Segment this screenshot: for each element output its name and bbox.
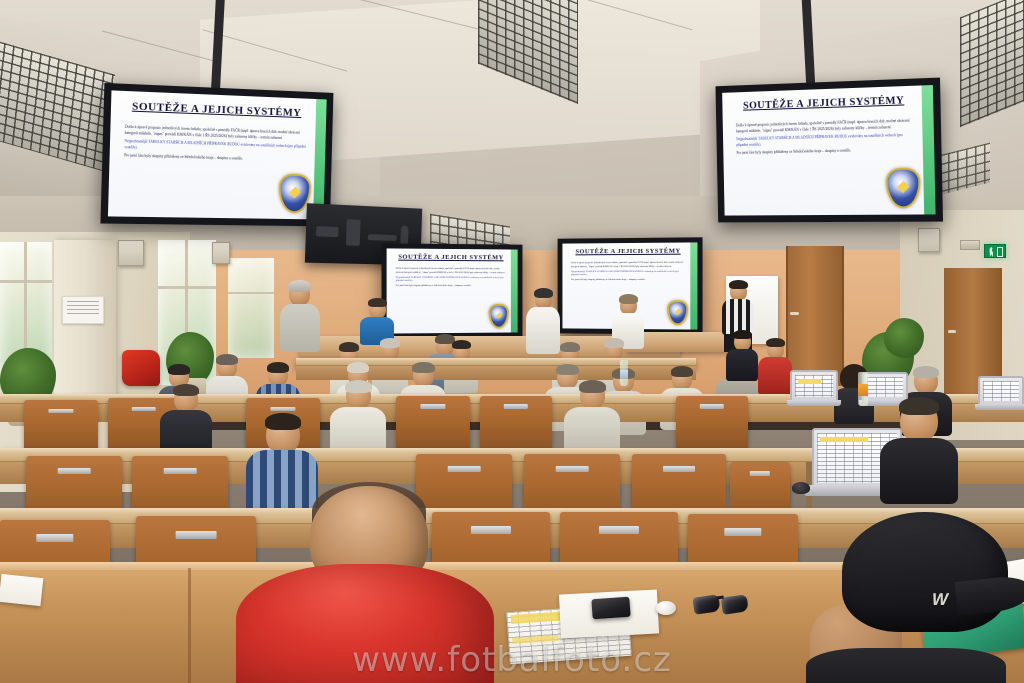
attendee-seated xyxy=(758,340,792,392)
slide-bullet: Nejpodstatnější TABULKY STARŠÍCH A MLADŠ… xyxy=(736,133,913,149)
screen-wall-left: SOUTĚŽE A JEJICH SYSTÉMY Došlo k úpravě … xyxy=(381,243,522,338)
slide-bullet: Pro jarní část byly skupiny přihlášeny z… xyxy=(736,147,913,157)
cap-logo: W xyxy=(930,590,956,608)
slide-title: SOUTĚŽE A JEJICH SYSTÉMY xyxy=(394,254,508,262)
door-handle[interactable] xyxy=(790,312,799,315)
wall-speaker xyxy=(918,228,940,252)
torso xyxy=(806,648,1006,683)
slide-body: Došlo k úpravě propozic jednotlivých for… xyxy=(124,125,307,165)
attendee-black-cap: W xyxy=(806,508,1024,683)
window xyxy=(228,258,274,358)
laptop[interactable] xyxy=(790,370,838,402)
cap-brim xyxy=(954,574,1024,616)
potted-plant xyxy=(884,318,924,358)
paper-sheet xyxy=(0,574,43,606)
chair[interactable] xyxy=(676,396,748,448)
attendee-seated xyxy=(564,382,620,452)
slide-accent-bar xyxy=(922,85,936,214)
attendee-red-shirt xyxy=(236,486,494,683)
slide-right: SOUTĚŽE A JEJICH SYSTÉMY Došlo k úpravě … xyxy=(722,85,935,216)
football-association-emblem xyxy=(885,167,921,208)
attendee-seated xyxy=(726,332,758,378)
chair[interactable] xyxy=(480,396,552,448)
screen-right-ceiling: SOUTĚŽE A JEJICH SYSTÉMY Došlo k úpravě … xyxy=(715,78,943,223)
slide-body: Došlo k úpravě propozic jednotlivých for… xyxy=(736,118,914,156)
water-bottle xyxy=(858,372,868,406)
slide-title: SOUTĚŽE A JEJICH SYSTÉMY xyxy=(569,248,687,256)
conference-hall-photo: SOUTĚŽE A JEJICH SYSTÉMY Došlo k úpravě … xyxy=(0,0,1024,683)
door-handle[interactable] xyxy=(948,330,956,333)
water-bottle xyxy=(620,360,628,386)
laptop[interactable] xyxy=(862,372,908,402)
screen-left-ceiling: SOUTĚŽE A JEJICH SYSTÉMY Došlo k úpravě … xyxy=(100,83,333,227)
attendee-seated xyxy=(330,382,386,452)
baseball-cap xyxy=(842,512,1008,632)
laptop[interactable] xyxy=(978,376,1024,406)
slide-accent-bar xyxy=(313,99,327,219)
computer-mouse[interactable] xyxy=(792,482,810,494)
slide-left: SOUTĚŽE A JEJICH SYSTÉMY Došlo k úpravě … xyxy=(108,90,327,219)
football-association-emblem xyxy=(488,304,508,329)
slide-bullet: Došlo k úpravě propozic jednotlivých for… xyxy=(571,262,684,270)
football-association-emblem xyxy=(667,300,688,325)
red-bag xyxy=(122,350,160,386)
slide-body: Došlo k úpravě propozic jednotlivých for… xyxy=(396,268,505,289)
attendee-seated-foreground xyxy=(880,400,958,500)
slide-bullet: Pro jarní část byly skupiny přihlášeny z… xyxy=(396,285,505,289)
presenter-standing xyxy=(278,282,322,352)
wall-box xyxy=(960,240,980,250)
slide-title: SOUTĚŽE A JEJICH SYSTÉMY xyxy=(732,95,917,112)
attendee-seated xyxy=(160,386,212,452)
chair[interactable] xyxy=(396,396,470,448)
mobile-phone[interactable] xyxy=(591,597,630,620)
slide-accent-bar xyxy=(691,242,698,329)
slide-accent-bar xyxy=(511,250,517,333)
slide-bullet: Nejpodstatnější TABULKY STARŠÍCH A MLADŠ… xyxy=(396,277,505,285)
red-tshirt xyxy=(236,564,494,683)
slide-body: Došlo k úpravě propozic jednotlivých for… xyxy=(571,262,684,283)
slide-wall-left: SOUTĚŽE A JEJICH SYSTÉMY Došlo k úpravě … xyxy=(387,248,518,333)
slide-bullet: Nejpodstatnější TABULKY STARŠÍCH A MLADŠ… xyxy=(571,271,684,279)
wall-notice xyxy=(62,296,104,324)
wall-speaker xyxy=(118,240,144,266)
slide-title: SOUTĚŽE A JEJICH SYSTÉMY xyxy=(121,100,311,119)
white-object xyxy=(656,601,676,615)
exit-sign xyxy=(984,244,1006,258)
slide-bullet: Došlo k úpravě propozic jednotlivých for… xyxy=(396,268,505,276)
slide-bullet: Pro jarní část byly skupiny přihlášeny z… xyxy=(571,279,684,283)
desk-seam xyxy=(188,568,191,683)
chair[interactable] xyxy=(24,400,98,454)
wall-speaker xyxy=(212,242,230,264)
